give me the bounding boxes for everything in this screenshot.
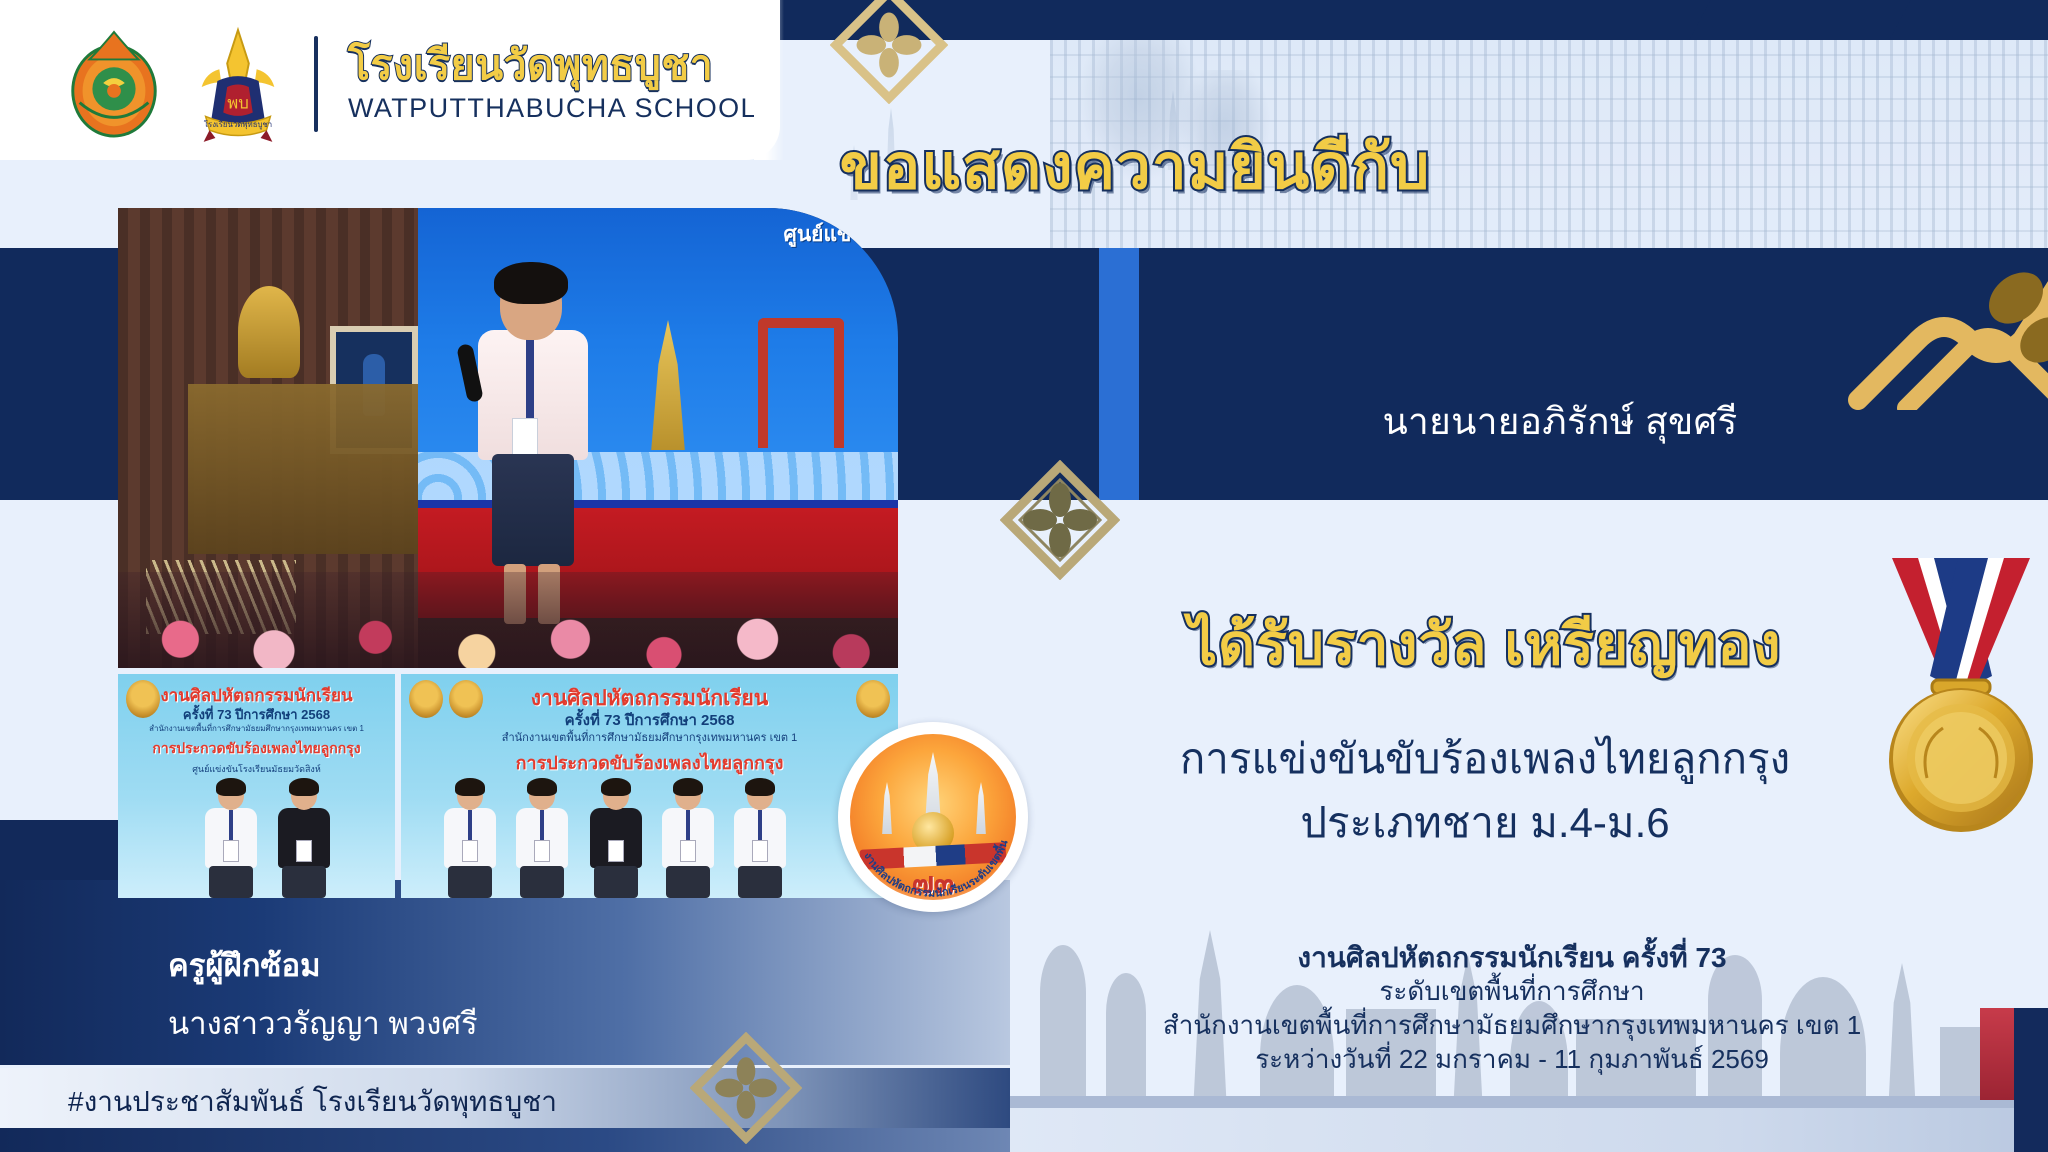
banner-venue: ศูนย์แข่งขันโรงเรียนมัธยมวัดสิงห์	[118, 762, 395, 776]
banner-contest: การประกวดขับร้องเพลงไทยลูกกรุง	[401, 748, 898, 777]
competition-name: การแข่งขันขับร้องเพลงไทยลูกกรุง	[1180, 726, 1790, 792]
left-navy-block	[0, 248, 130, 500]
badge-arc-label: งานศิลปหัตถกรรมนักเรียนระดับเขตพื้นที่กา…	[838, 722, 1011, 900]
diamond-ornament-icon	[1000, 460, 1120, 580]
garuda-seal-icon	[60, 26, 168, 142]
event-logo-badge: ๗๓ งานศิลปหัตถกรรมนักเรียนระดับเขตพื้นที…	[838, 722, 1028, 912]
photo-collage: ศูนย์แข่งขั งานศิลปหัตถกรรมนักเรียน	[118, 208, 898, 898]
event-details: งานศิลปหัตถกรรมนักเรียน ครั้งที่ 73 ระดั…	[1163, 940, 1861, 1076]
event-office: สำนักงานเขตพื้นที่การศึกษามัธยมศึกษากรุง…	[1163, 1009, 1861, 1043]
group-photo: งานศิลปหัตถกรรมนักเรียน ครั้งที่ 73 ปีกา…	[401, 674, 898, 898]
stage-screen-caption: ศูนย์แข่งขั	[784, 218, 877, 251]
event-dates: ระหว่างวันที่ 22 มกราคม - 11 กุมภาพันธ์ …	[1163, 1043, 1861, 1077]
award-result: ได้รับรางวัล เหรียญทอง	[1189, 600, 1782, 690]
award-photo-pair: งานศิลปหัตถกรรมนักเรียน ครั้งที่ 73 ปีกา…	[118, 674, 395, 898]
bottom-strip	[1010, 1108, 2048, 1152]
badge-arc-text: งานศิลปหัตถกรรมนักเรียนระดับเขตพื้นที่กา…	[838, 722, 1028, 912]
corner-ornament-icon	[1848, 170, 2048, 410]
competition-category: ประเภทชาย ม.4-ม.6	[1300, 790, 1669, 856]
svg-text:พบ: พบ	[227, 94, 249, 113]
main-performance-photo: ศูนย์แข่งขั	[118, 208, 898, 668]
coach-label: ครูผู้ฝึกซ้อม	[168, 940, 321, 990]
banner-office: สำนักงานเขตพื้นที่การศึกษามัธยมศึกษากรุง…	[118, 722, 395, 735]
banner-office: สำนักงานเขตพื้นที่การศึกษามัธยมศึกษากรุง…	[401, 728, 898, 746]
school-header-plate: พบ โรงเรียนวัดพุทธบูชา โรงเรียนวัดพุทธบู…	[0, 0, 780, 160]
banner-contest: การประกวดขับร้องเพลงไทยลูกกรุง	[118, 738, 395, 760]
school-name-english: WATPUTTHABUCHA SCHOOL	[348, 91, 757, 126]
event-name: งานศิลปหัตถกรรมนักเรียน ครั้งที่ 73	[1163, 940, 1861, 975]
coach-name: นางสาววรัญญา พวงศรี	[168, 998, 478, 1048]
top-navy-band-skew	[1689, 0, 1910, 40]
red-accent-block	[1980, 1008, 2014, 1100]
header-divider	[314, 36, 318, 132]
school-name-thai: โรงเรียนวัดพุทธบูชา	[348, 42, 757, 89]
school-emblem-icon: พบ โรงเรียนวัดพุทธบูชา	[184, 26, 292, 142]
gold-medal-icon	[1872, 552, 2048, 834]
svg-text:งานศิลปหัตถกรรมนักเรียนระดับเข: งานศิลปหัตถกรรมนักเรียนระดับเขตพื้นที่กา…	[838, 722, 1011, 900]
event-level: ระดับเขตพื้นที่การศึกษา	[1163, 975, 1861, 1009]
svg-text:โรงเรียนวัดพุทธบูชา: โรงเรียนวัดพุทธบูชา	[204, 120, 272, 130]
diamond-ornament-icon	[690, 1032, 802, 1144]
recipient-name: นายนายอภิรักษ์ สุขศรี	[1382, 392, 1737, 451]
diamond-ornament-icon	[830, 0, 948, 104]
hashtag-bar-shadow	[0, 1128, 1010, 1152]
poster-canvas: พบ โรงเรียนวัดพุทธบูชา โรงเรียนวัดพุทธบู…	[0, 0, 2048, 1152]
student-singer	[468, 268, 598, 598]
navy-corner-block	[2014, 1008, 2048, 1152]
congratulations-title: ขอแสดงความยินดีกับ	[840, 118, 1431, 216]
hashtag-text: #งานประชาสัมพันธ์ โรงเรียนวัดพุทธบูชา	[68, 1080, 557, 1124]
